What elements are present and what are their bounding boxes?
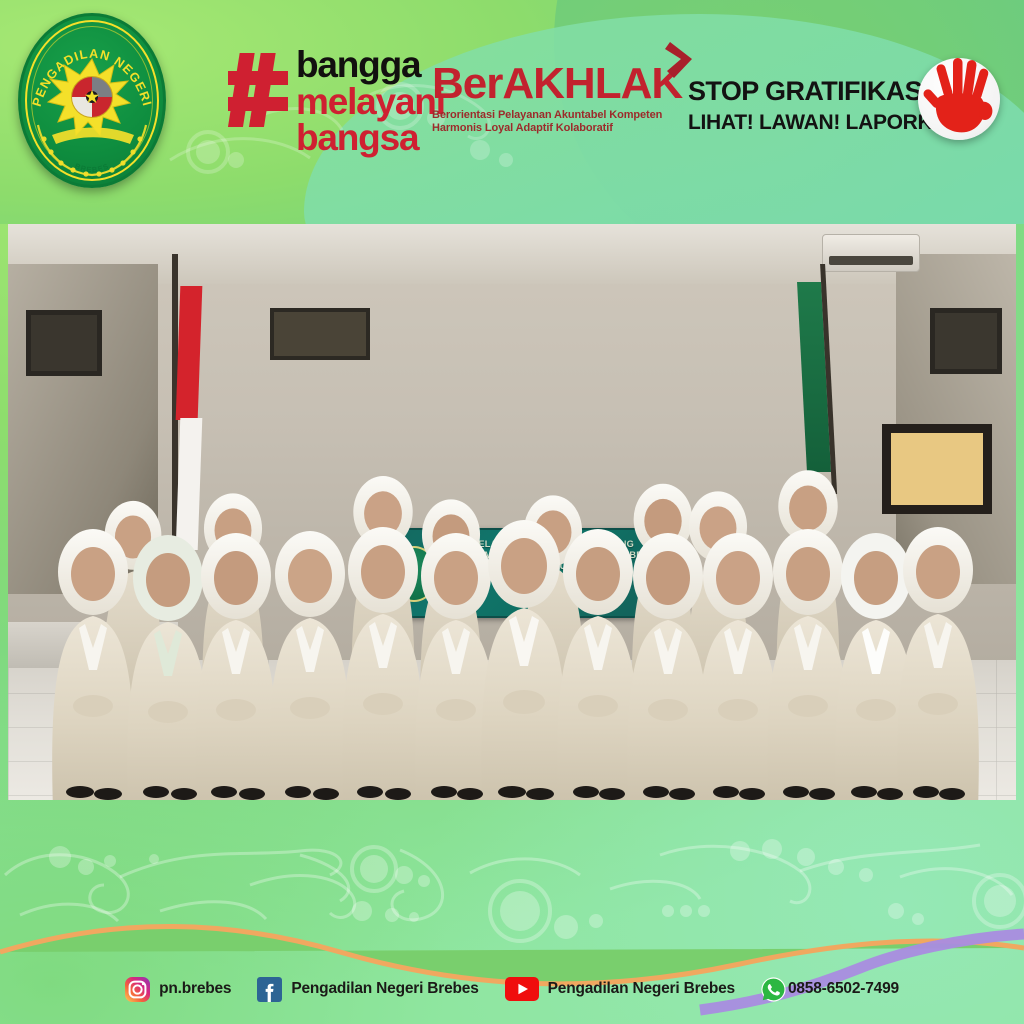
facebook-page-name: Pengadilan Negeri Brebes [291,980,478,998]
whatsapp-number: 0858-6502-7499 [788,980,899,998]
youtube-icon[interactable] [505,977,539,1001]
instagram-icon[interactable] [125,977,150,1002]
berakhlak-subtitle-2: Harmonis Loyal Adaptif Kolaboratif [432,122,682,135]
social-whatsapp[interactable]: 0858-6502-7499 [761,977,899,1002]
instagram-handle: pn.brebes [159,980,231,998]
air-conditioner [822,234,920,272]
social-instagram[interactable]: pn.brebes [125,977,231,1002]
poster-canvas: PENGADILAN NEGERI BREBES [0,0,1024,1024]
group-of-attendees [8,400,1016,800]
social-youtube[interactable]: Pengadilan Negeri Brebes [505,977,735,1001]
chevron-right-icon [664,40,698,80]
youtube-channel-name: Pengadilan Negeri Brebes [548,980,735,998]
front-row [52,520,979,800]
social-facebook[interactable]: Pengadilan Negeri Brebes [257,977,478,1002]
hashtag-line-3: bangsa [296,120,445,157]
window-center [270,308,370,360]
hashtag-line-2: melayani [296,84,445,121]
red-handprint-icon [918,58,1000,140]
berakhlak-wordmark: BerAKHLAK [432,62,682,106]
facebook-icon[interactable] [257,977,282,1002]
court-seal-logo: PENGADILAN NEGERI BREBES [18,13,166,188]
berakhlak-subtitle-1: Berorientasi Pelayanan Akuntabel Kompete… [432,109,682,122]
berakhlak-logo: BerAKHLAK Berorientasi Pelayanan Akuntab… [432,62,682,135]
seal-artwork: PENGADILAN NEGERI BREBES [18,13,166,188]
window-left [26,310,102,376]
hash-icon [228,51,288,129]
social-media-footer: pn.brebes Pengadilan Negeri Brebes Penga… [0,954,1024,1024]
whatsapp-icon[interactable] [761,977,786,1002]
window-right [930,308,1002,374]
event-photograph: PELANTIKAN PENGURUS CABANG DHARMAYUKTI K… [8,224,1016,800]
header-banner: PENGADILAN NEGERI BREBES [0,0,1024,224]
bangga-melayani-bangsa-logo: bangga melayani bangsa [228,47,445,157]
hashtag-line-1: bangga [296,47,445,84]
